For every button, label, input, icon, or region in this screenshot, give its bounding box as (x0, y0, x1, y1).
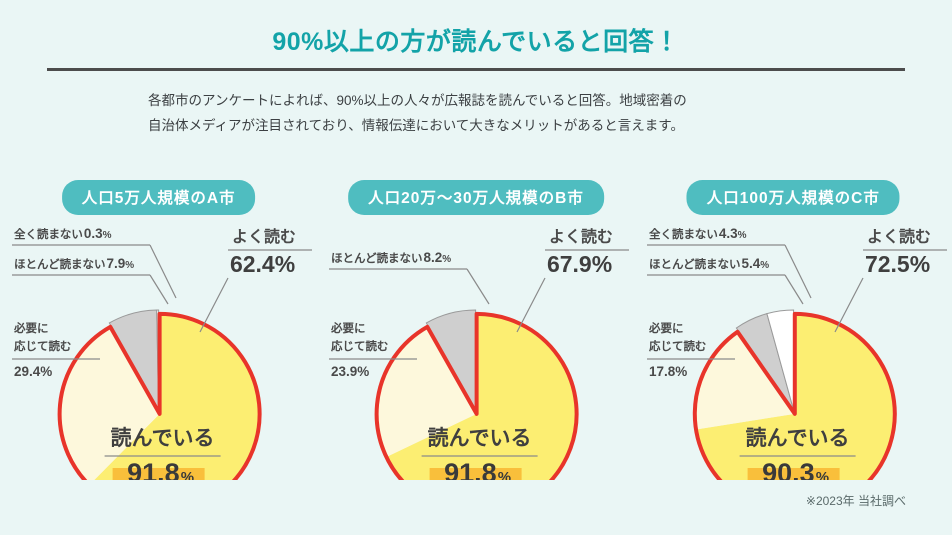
reading-group-2 (377, 314, 577, 480)
pie-svg-2: ほとんど読まない8.2%よく読む67.9%必要に応じて読む23.9%読んでいる9… (317, 214, 634, 480)
svg-text:応じて読む: 応じて読む (649, 339, 706, 353)
svg-text:よく読む: よく読む (867, 227, 931, 246)
svg-text:ほとんど読まない5.4%: ほとんど読まない5.4% (649, 256, 769, 271)
slice-label-3-none: 全く読まない4.3% (647, 226, 785, 245)
slice-label-1-none: 全く読まない0.3% (12, 226, 150, 245)
svg-text:よく読む: よく読む (549, 227, 613, 246)
svg-text:応じて読む: 応じて読む (331, 339, 388, 353)
slice-label-3-rarely: ほとんど読まない5.4% (647, 256, 785, 275)
source-footnote: ※2023年 当社調べ (806, 492, 906, 509)
intro-line-2: 自治体メディアが注目されており、情報伝達において大きなメリットがあると言えます。 (148, 113, 828, 138)
svg-text:29.4%: 29.4% (14, 364, 52, 379)
svg-text:必要に: 必要に (648, 321, 683, 335)
svg-text:全く読まない4.3%: 全く読まない4.3% (649, 226, 747, 241)
chart-column-2: 人口20万〜30万人規模のB市ほとんど読まない8.2%よく読む67.9%必要に応… (317, 180, 634, 480)
pie-chart-2: ほとんど読まない8.2%よく読む67.9%必要に応じて読む23.9%読んでいる9… (317, 214, 634, 480)
svg-text:62.4%: 62.4% (230, 251, 295, 277)
chart-column-1: 人口5万人規模のA市全く読まない0.3%ほとんど読まない7.9%よく読む62.4… (0, 180, 317, 480)
svg-text:23.9%: 23.9% (331, 364, 369, 379)
svg-text:応じて読む: 応じて読む (14, 339, 71, 353)
slice-label-2-often: よく読む67.9% (545, 227, 629, 277)
slice-label-3-often: よく読む72.5% (863, 227, 947, 277)
slice-label-1-often: よく読む62.4% (228, 227, 312, 277)
city-badge-3: 人口100万人規模のC市 (687, 180, 900, 215)
page-title: 90%以上の方が読んでいると回答！ (0, 22, 952, 58)
svg-text:必要に: 必要に (330, 321, 365, 335)
svg-text:よく読む: よく読む (232, 227, 296, 246)
svg-text:67.9%: 67.9% (547, 251, 612, 277)
svg-text:ほとんど読まない8.2%: ほとんど読まない8.2% (331, 250, 451, 265)
title-divider (47, 68, 905, 71)
svg-text:ほとんど読まない7.9%: ほとんど読まない7.9% (14, 256, 134, 271)
svg-text:読んでいる: 読んでいる (111, 427, 215, 450)
infographic-page: 90%以上の方が読んでいると回答！ 各都市のアンケートによれば、90%以上の人々… (0, 0, 952, 535)
slice-label-1-rarely: ほとんど読まない7.9% (12, 256, 150, 275)
svg-text:17.8%: 17.8% (649, 364, 687, 379)
chart-column-3: 人口100万人規模のC市全く読まない4.3%ほとんど読まない5.4%よく読む72… (635, 180, 952, 480)
reading-group-3 (694, 314, 894, 480)
pie-svg-3: 全く読まない4.3%ほとんど読まない5.4%よく読む72.5%必要に応じて読む1… (635, 214, 952, 480)
slice-label-2-rarely: ほとんど読まない8.2% (329, 250, 467, 269)
svg-text:読んでいる: 読んでいる (745, 427, 849, 450)
svg-text:必要に: 必要に (13, 321, 48, 335)
pie-chart-3: 全く読まない4.3%ほとんど読まない5.4%よく読む72.5%必要に応じて読む1… (635, 214, 952, 480)
svg-text:全く読まない0.3%: 全く読まない0.3% (14, 226, 112, 241)
city-badge-1: 人口5万人規模のA市 (62, 180, 256, 215)
pie-svg-1: 全く読まない0.3%ほとんど読まない7.9%よく読む62.4%必要に応じて読む2… (0, 214, 317, 480)
svg-text:72.5%: 72.5% (865, 251, 930, 277)
intro-line-1: 各都市のアンケートによれば、90%以上の人々が広報誌を読んでいると回答。地域密着… (148, 88, 828, 113)
pie-chart-1: 全く読まない0.3%ほとんど読まない7.9%よく読む62.4%必要に応じて読む2… (0, 214, 317, 480)
chart-row: 人口5万人規模のA市全く読まない0.3%ほとんど読まない7.9%よく読む62.4… (0, 180, 952, 480)
city-badge-2: 人口20万〜30万人規模のB市 (348, 180, 604, 215)
svg-text:読んでいる: 読んでいる (428, 427, 532, 450)
reading-group-1 (60, 314, 260, 480)
intro-paragraph: 各都市のアンケートによれば、90%以上の人々が広報誌を読んでいると回答。地域密着… (148, 88, 828, 138)
